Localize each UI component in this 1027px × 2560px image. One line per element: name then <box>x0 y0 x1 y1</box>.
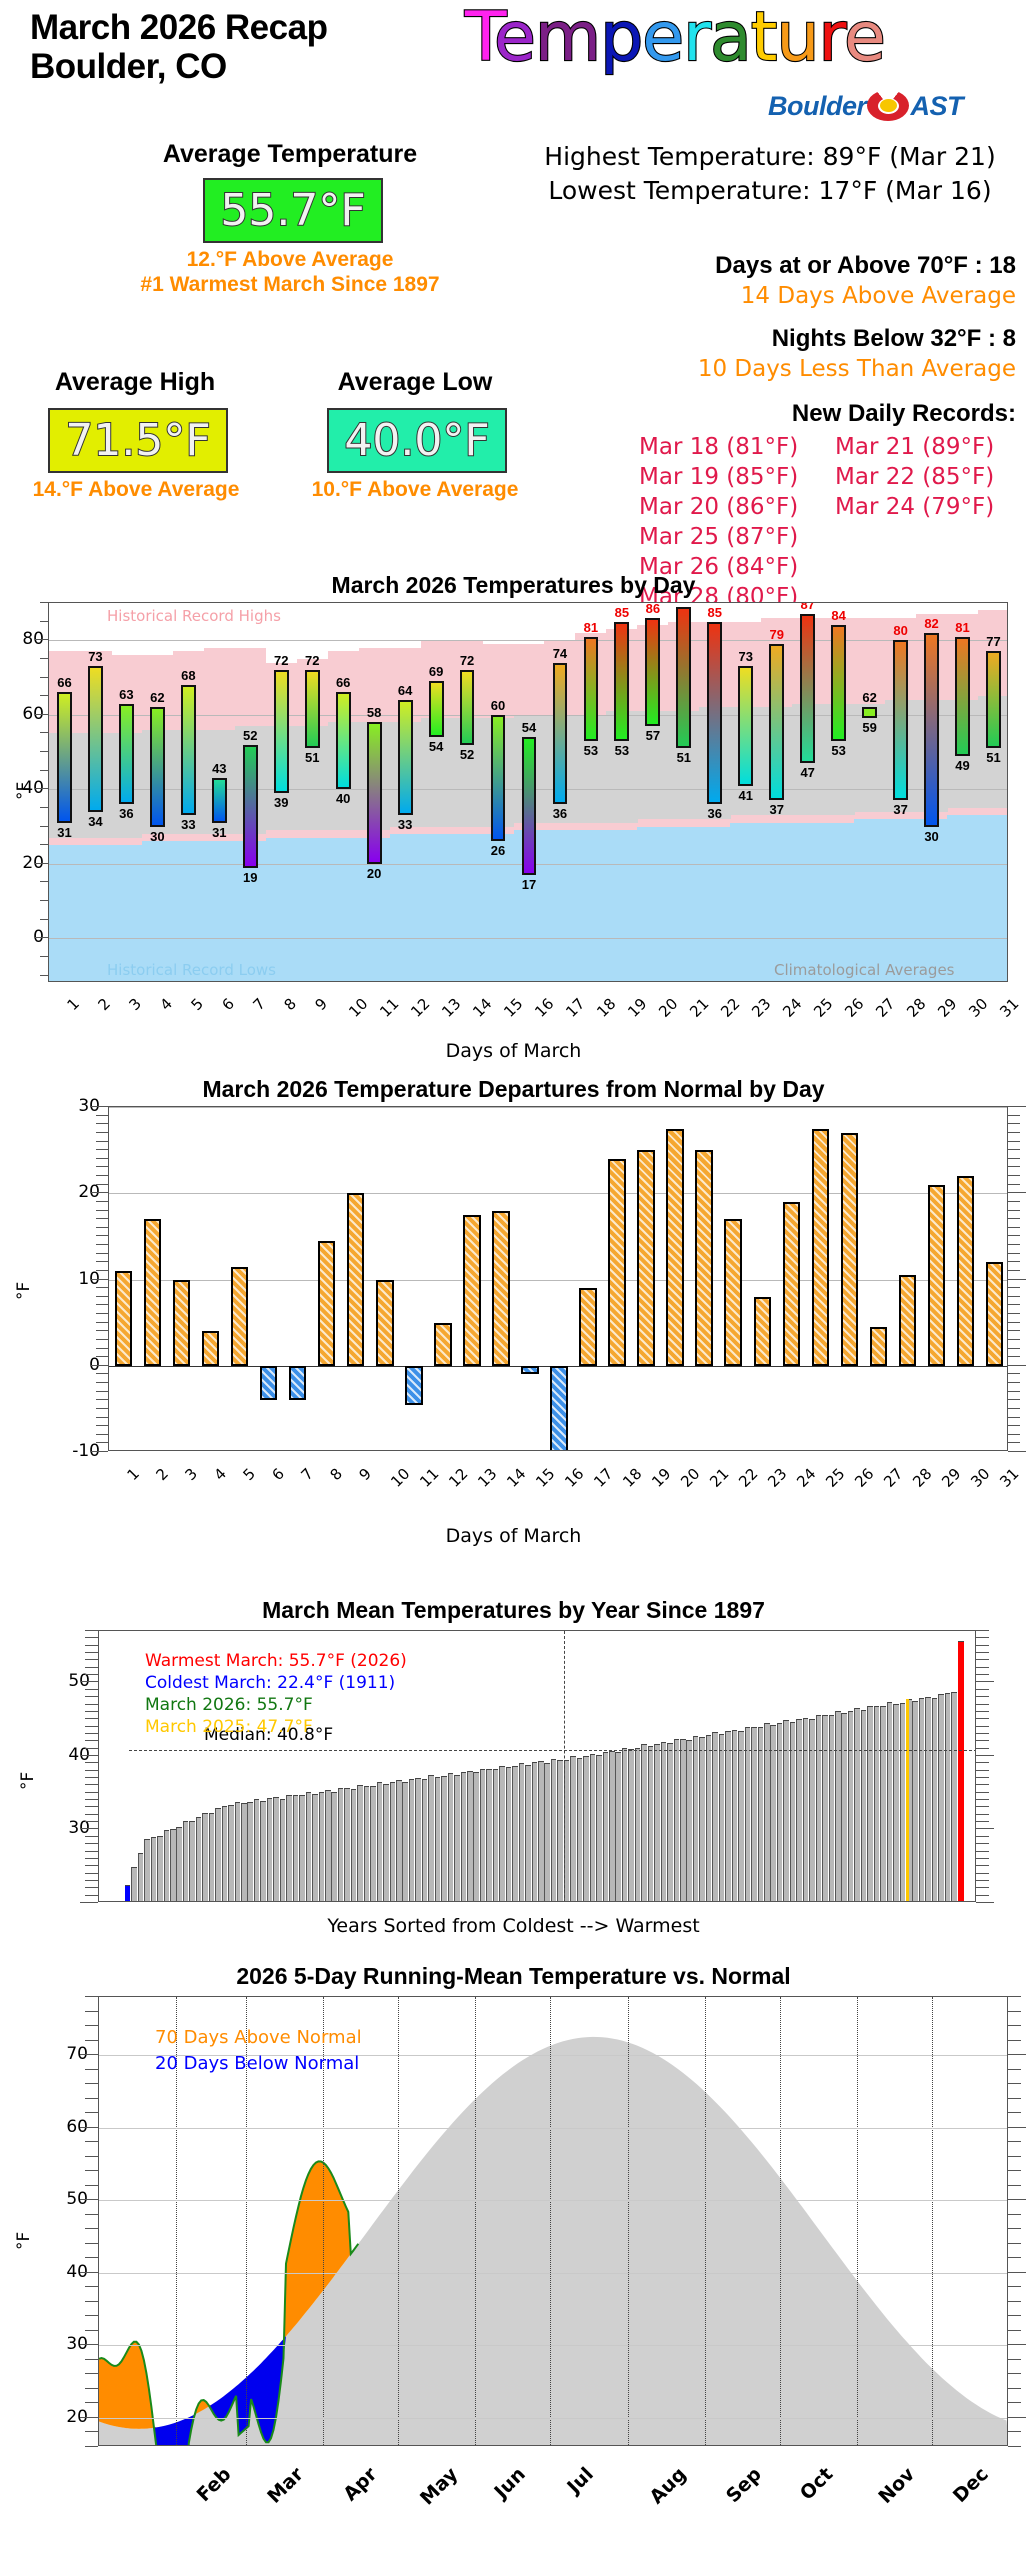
year-mean-bar <box>816 1715 822 1902</box>
year-mean-bar <box>409 1779 415 1902</box>
chart1-xtick: 10 <box>345 995 371 1021</box>
bouldercast-logo: BoulderAST <box>768 90 963 122</box>
chart3-ytick-mark-right <box>976 1792 989 1793</box>
wordmark-letter-1: e <box>494 0 535 77</box>
chart4-legend: 70 Days Above Normal20 Days Below Normal <box>155 2025 362 2077</box>
chart2-ytick-mark <box>96 1322 108 1323</box>
day-high-label: 73 <box>75 649 116 664</box>
year-mean-bar <box>796 1719 802 1902</box>
chart1-ytick-mark <box>35 937 48 938</box>
chart4-ytick-mark-right <box>1008 2040 1021 2041</box>
chart4-ytick-mark-right <box>1008 2025 1021 2026</box>
chart4-ytick-mark-right <box>1008 2417 1026 2418</box>
chart2-ytick-mark-right <box>1008 1348 1020 1349</box>
chart2-ytick-mark <box>96 1391 108 1392</box>
chart1-xtick: 14 <box>469 995 495 1021</box>
chart4-gridline <box>99 2345 1008 2346</box>
year-mean-bar <box>880 1706 886 1902</box>
year-mean-bar <box>370 1786 376 1902</box>
chart3-title: March Mean Temperatures by Year Since 18… <box>0 1597 1027 1624</box>
chart3-ytick-mark-right <box>976 1777 989 1778</box>
chart2-ytick-mark-right <box>1008 1106 1026 1107</box>
year-mean-bar <box>686 1740 692 1902</box>
year-mean-bar <box>377 1782 383 1902</box>
year-mean-bar <box>841 1713 847 1902</box>
chart3-ytick-mark <box>85 1777 98 1778</box>
annotation-record-highs: Historical Record Highs <box>107 607 281 625</box>
day-range-bar <box>553 663 568 805</box>
day-low-label: 36 <box>694 806 735 821</box>
day-range-bar <box>336 692 351 789</box>
chart3-legend-item-3: March 2025: 47.7°F <box>145 1716 407 1738</box>
chart3-ytick-mark <box>80 1681 98 1682</box>
day-high-label: 85 <box>694 605 735 620</box>
year-mean-bar <box>151 1837 157 1902</box>
chart4-ytick-mark-right <box>1008 1996 1021 1997</box>
record-low-band <box>390 834 422 982</box>
departure-bar <box>173 1280 190 1366</box>
year-mean-bar <box>441 1776 447 1902</box>
day-low-label: 26 <box>478 843 519 858</box>
chart4-ytick-mark-right <box>1008 2388 1021 2389</box>
chart4-ytick-mark-right <box>1008 2315 1021 2316</box>
chart1-title: March 2026 Temperatures by Day <box>0 572 1027 599</box>
chart2-ytick-mark-right <box>1008 1166 1020 1167</box>
chart2-ytick-mark-right <box>1008 1417 1020 1418</box>
day-low-label: 53 <box>818 743 859 758</box>
year-mean-bar <box>396 1780 402 1902</box>
chart2-ytick-mark-right <box>1008 1201 1020 1202</box>
year-mean-bar <box>667 1743 673 1902</box>
chart4-ytick-mark <box>85 1996 98 1997</box>
chart3-ytick-mark-right <box>976 1733 989 1734</box>
chart3-ytick-mark-right <box>976 1770 989 1771</box>
year-mean-bar <box>661 1742 667 1902</box>
chart4-ytick-mark-right <box>1008 2083 1021 2084</box>
chart1-ytick-mark <box>40 881 48 882</box>
chart2-ytick-mark <box>96 1434 108 1435</box>
chart1-xtick: 13 <box>438 995 464 1021</box>
day-low-label: 37 <box>880 802 921 817</box>
chart3-ytick-mark <box>85 1799 98 1800</box>
chart4-ytick-mark <box>85 2243 98 2244</box>
day-low-label: 53 <box>601 743 642 758</box>
departure-bar <box>754 1297 771 1366</box>
record-low-band <box>978 815 1008 982</box>
year-mean-bar <box>809 1719 815 1902</box>
chart3-ytick-mark-right <box>976 1851 989 1852</box>
chart4-ytick-mark <box>85 2359 98 2360</box>
chart3-ytick-mark-right <box>976 1821 989 1822</box>
year-mean-bar <box>461 1772 467 1902</box>
departure-bar <box>637 1150 654 1366</box>
chart2-ytick-mark-right <box>1008 1399 1020 1400</box>
chart3-ytick-mark <box>85 1652 98 1653</box>
chart3-ytick-mark-right <box>976 1726 989 1727</box>
record-low-band <box>730 823 762 982</box>
chart2-ytick-mark-right <box>1008 1434 1020 1435</box>
day-low-label: 47 <box>787 765 828 780</box>
year-mean-bar <box>919 1698 925 1902</box>
chart3-ytick-mark <box>85 1645 98 1646</box>
year-mean-bar <box>674 1739 680 1902</box>
chart4-ytick-mark <box>85 2170 98 2171</box>
chart4-ytick-mark-right <box>1008 2054 1026 2055</box>
year-mean-bar <box>293 1795 299 1902</box>
chart4-month-divider-7 <box>705 1997 706 2446</box>
chart3-ytick-mark <box>85 1821 98 1822</box>
chart2-xtick: 1 <box>123 1465 142 1484</box>
chart4-ytick-mark <box>80 2272 98 2273</box>
year-mean-bar <box>209 1813 215 1902</box>
chart3-ytick-mark <box>85 1784 98 1785</box>
year-mean-bar <box>725 1731 731 1902</box>
chart2-ytick-mark <box>96 1399 108 1400</box>
day-range-bar <box>398 700 413 815</box>
day-high-label: 62 <box>849 690 890 705</box>
year-mean-bar <box>958 1641 964 1902</box>
chart4-ytick-mark <box>85 2040 98 2041</box>
year-mean-bar <box>415 1778 421 1902</box>
chart3-ytick-mark <box>85 1740 98 1741</box>
year-mean-bar <box>583 1756 589 1902</box>
wordmark-letter-6: a <box>710 0 751 77</box>
chart1-xtick: 28 <box>903 995 929 1021</box>
chart2-ytick-mark-right <box>1008 1442 1020 1443</box>
chart1-plot-area: 6631733463366230683343315219723972516640… <box>48 602 1008 982</box>
chart2-xtick: 14 <box>503 1465 529 1491</box>
avg-high-value: 71.5°F <box>65 415 210 466</box>
chart4-ytick-mark-right <box>1008 2199 1026 2200</box>
chart3-xlabel: Years Sorted from Coldest --> Warmest <box>0 1915 1027 1937</box>
chart3-ytick-mark-right <box>976 1858 989 1859</box>
day-range-bar <box>924 633 939 827</box>
chart3-ytick-mark-right <box>976 1652 989 1653</box>
departure-bar <box>376 1280 393 1366</box>
chart2-ytick-mark-right <box>1008 1322 1020 1323</box>
year-mean-bar <box>189 1821 195 1902</box>
chart3-ytick-mark <box>80 1755 98 1756</box>
day-low-label: 41 <box>725 788 766 803</box>
day-low-label: 36 <box>539 806 580 821</box>
chart3-ytick-mark-right <box>976 1711 989 1712</box>
year-mean-bar <box>351 1789 357 1902</box>
chart3-ytick-mark-right <box>976 1836 989 1837</box>
days-above-70-stat: Days at or Above 70°F : 18 <box>560 252 1016 280</box>
chart1-ytick-mark <box>35 863 48 864</box>
chart3-ytick-mark <box>85 1865 98 1866</box>
chart4-ytick-mark <box>85 2083 98 2084</box>
chart2-ytick-mark-right <box>1008 1313 1020 1314</box>
year-mean-bar <box>493 1769 499 1902</box>
chart2-ytick-mark-right <box>1008 1304 1020 1305</box>
chart4-title: 2026 5-Day Running-Mean Temperature vs. … <box>0 1963 1027 1990</box>
chart2-ytick-mark-right <box>1008 1227 1020 1228</box>
chart4-ytick-mark <box>85 2069 98 2070</box>
day-range-bar <box>707 622 722 805</box>
chart2-xtick: 16 <box>561 1465 587 1491</box>
year-mean-bar <box>848 1711 854 1902</box>
year-mean-bar <box>532 1762 538 1902</box>
chart1-xtick: 8 <box>281 995 300 1014</box>
year-mean-bar <box>628 1749 634 1902</box>
chart3-ytick-mark <box>85 1667 98 1668</box>
year-mean-bar <box>448 1773 454 1902</box>
chart2-ytick-mark <box>96 1287 108 1288</box>
annotation-climatology: Climatological Averages <box>774 961 955 979</box>
chart2-ytick-mark-right <box>1008 1408 1020 1409</box>
year-mean-bar <box>525 1765 531 1902</box>
chart2-ytick-mark-right <box>1008 1175 1020 1176</box>
year-mean-bar <box>183 1821 189 1902</box>
chart4-ytick-mark-right <box>1008 2373 1021 2374</box>
record-left-1: Mar 19 (85°F) <box>639 464 798 490</box>
chart2-ytick-mark <box>96 1348 108 1349</box>
median-year-divider <box>564 1631 565 1902</box>
departure-bar <box>463 1215 480 1366</box>
departure-bar <box>608 1159 625 1366</box>
chart2-ytick-mark <box>96 1253 108 1254</box>
chart3-ytick-mark-right <box>976 1895 989 1896</box>
chart1-xtick: 1 <box>64 995 83 1014</box>
year-mean-bar <box>486 1769 492 1902</box>
chart1-xtick: 25 <box>810 995 836 1021</box>
chart4-ylabel: °F <box>14 2232 34 2250</box>
year-mean-bar <box>654 1744 660 1902</box>
wordmark-letter-2: m <box>535 0 600 77</box>
year-mean-bar <box>215 1808 221 1902</box>
year-mean-bar <box>331 1792 337 1902</box>
year-mean-bar <box>506 1767 512 1902</box>
day-range-bar <box>212 778 227 823</box>
year-mean-bar <box>357 1785 363 1902</box>
chart3-ytick-mark-right <box>976 1887 989 1888</box>
chart2-ytick-mark <box>96 1296 108 1297</box>
chart2-xtick: 5 <box>239 1465 258 1484</box>
chart1-xtick: 15 <box>500 995 526 1021</box>
year-mean-bar <box>609 1751 615 1902</box>
year-mean-bar <box>402 1782 408 1902</box>
chart4-ytick-mark <box>85 2112 98 2113</box>
chart4-ytick-mark <box>80 2054 98 2055</box>
chart3-ytick-mark <box>85 1792 98 1793</box>
chart2-ytick-mark <box>96 1261 108 1262</box>
chart3-ytick-mark <box>85 1814 98 1815</box>
chart1-xtick: 9 <box>312 995 331 1014</box>
year-mean-bar <box>235 1802 241 1902</box>
chart1-ytick-mark <box>40 770 48 771</box>
chart3-ytick-mark <box>85 1887 98 1888</box>
year-mean-bar <box>829 1715 835 1902</box>
chart4-ytick-mark <box>85 2286 98 2287</box>
chart2-xtick: 10 <box>387 1465 413 1491</box>
chart4-gridline <box>99 2200 1008 2201</box>
chart2-ytick-mark <box>96 1235 108 1236</box>
chart3-ytick-mark <box>85 1733 98 1734</box>
day-range-bar <box>738 666 753 785</box>
chart4-xtick-sep: Sep <box>722 2463 766 2507</box>
chart2-ytick-mark-right <box>1008 1451 1026 1452</box>
day-range-bar <box>88 666 103 811</box>
chart4-ytick-mark-right <box>1008 2446 1021 2447</box>
year-mean-bar <box>615 1752 621 1902</box>
year-mean-bar <box>260 1801 266 1902</box>
wordmark-letter-7: t <box>751 0 777 77</box>
chart3-ytick-mark <box>85 1630 98 1631</box>
chart2-xtick: 12 <box>445 1465 471 1491</box>
chart1-xtick: 19 <box>624 995 650 1021</box>
chart1-ytick-mark <box>40 751 48 752</box>
chart1-xtick: 24 <box>779 995 805 1021</box>
chart4-month-divider-10 <box>932 1997 933 2446</box>
year-mean-bar <box>790 1722 796 1902</box>
avg-temp-box: 55.7°F <box>203 178 383 243</box>
chart1-xtick: 5 <box>188 995 207 1014</box>
year-mean-bar <box>241 1803 247 1902</box>
wordmark-letter-10: e <box>844 0 885 77</box>
chart1-ytick-mark <box>40 956 48 957</box>
record-low-band <box>823 823 855 982</box>
record-low-band <box>699 827 731 982</box>
day-high-label: 60 <box>478 698 519 713</box>
year-mean-bar <box>783 1720 789 1902</box>
chart4-gridline <box>99 2273 1008 2274</box>
year-mean-bar <box>603 1752 609 1902</box>
year-mean-bar <box>932 1698 938 1902</box>
chart1-xtick: 6 <box>219 995 238 1014</box>
chart2-ytick-mark <box>96 1313 108 1314</box>
chart1-xtick: 27 <box>872 995 898 1021</box>
departure-bar <box>928 1185 945 1366</box>
chart2-ytick-mark <box>90 1106 108 1107</box>
year-mean-bar <box>738 1731 744 1902</box>
chart2-ytick-mark-right <box>1008 1244 1020 1245</box>
day-range-bar <box>367 722 382 864</box>
departure-bar <box>231 1267 248 1366</box>
record-left-3: Mar 25 (87°F) <box>639 524 798 550</box>
chart4-ytick-mark-right <box>1008 2170 1021 2171</box>
chart3-legend-item-1: Coldest March: 22.4°F (1911) <box>145 1672 407 1694</box>
year-mean-bar <box>538 1761 544 1902</box>
record-left-0: Mar 18 (81°F) <box>639 434 798 460</box>
year-mean-bar <box>900 1703 906 1902</box>
year-mean-bar <box>319 1792 325 1902</box>
chart4-ytick-mark <box>80 2199 98 2200</box>
chart2-ytick-mark-right <box>1008 1270 1020 1271</box>
day-high-label: 64 <box>385 683 426 698</box>
year-mean-bar <box>867 1706 873 1902</box>
year-mean-bar <box>473 1772 479 1902</box>
record-low-band <box>606 830 638 982</box>
year-mean-bar <box>480 1769 486 1902</box>
chart4-ytick-mark-right <box>1008 2286 1021 2287</box>
chart2-ytick-mark-right <box>1008 1123 1020 1124</box>
chart4-ytick-mark <box>85 2402 98 2403</box>
chart4-ytick-mark <box>85 2257 98 2258</box>
avg-high-anomaly: 14.°F Above Average <box>6 478 266 503</box>
day-range-bar <box>150 707 165 826</box>
day-low-label: 36 <box>106 806 147 821</box>
year-mean-bar <box>383 1784 389 1902</box>
chart4-ytick-mark <box>85 2301 98 2302</box>
wordmark-letter-8: u <box>776 0 818 77</box>
chart3-ytick-mark <box>85 1895 98 1896</box>
chart2-ytick-mark <box>96 1244 108 1245</box>
chart1-ytick-mark <box>40 695 48 696</box>
chart2-xtick: 30 <box>968 1465 994 1491</box>
chart2-ytick-mark <box>96 1175 108 1176</box>
departure-bar <box>957 1176 974 1366</box>
chart3-ytick-mark-right <box>976 1814 989 1815</box>
chart2-xtick: 24 <box>793 1465 819 1491</box>
chart3-ytick-mark-right <box>976 1659 989 1660</box>
chart2-ytick-mark <box>96 1201 108 1202</box>
year-mean-bar <box>861 1710 867 1902</box>
chart3-ytick-mark-right <box>976 1873 989 1874</box>
chart3-legend-item-0: Warmest March: 55.7°F (2026) <box>145 1650 407 1672</box>
chart4-month-divider-5 <box>550 1997 551 2446</box>
chart1-ytick-mark <box>35 788 48 789</box>
chart1-ytick-mark <box>40 900 48 901</box>
chart2-xtick: 3 <box>181 1465 200 1484</box>
year-mean-bar <box>732 1730 738 1902</box>
chart4-ytick-mark <box>80 2344 98 2345</box>
departure-bar <box>289 1366 306 1401</box>
chart2-xtick: 23 <box>764 1465 790 1491</box>
chart4-ytick-mark-right <box>1008 2141 1021 2142</box>
chart3-ytick-mark-right <box>976 1718 989 1719</box>
day-range-bar <box>119 704 134 805</box>
chart2-ytick-mark-right <box>1008 1339 1020 1340</box>
chart2-ytick-mark <box>96 1132 108 1133</box>
day-high-label: 84 <box>818 608 859 623</box>
chart4-ytick-mark <box>85 2388 98 2389</box>
chart1-ytick-mark <box>40 658 48 659</box>
new-records-column-right: Mar 21 (89°F)Mar 22 (85°F)Mar 24 (79°F) <box>835 434 994 524</box>
avg-temp-value: 55.7°F <box>220 185 365 236</box>
year-mean-bar <box>170 1829 176 1902</box>
chart1-ytick-mark <box>40 677 48 678</box>
year-mean-bar <box>280 1799 286 1902</box>
annotation-record-lows: Historical Record Lows <box>107 961 276 979</box>
day-low-label: 19 <box>230 870 271 885</box>
chart4-ytick-mark <box>85 2156 98 2157</box>
day-range-bar <box>181 685 196 815</box>
wordmark-letter-9: r <box>819 0 844 77</box>
chart1-gridline <box>49 938 1008 939</box>
day-high-label: 79 <box>756 627 797 642</box>
chart2-ytick-mark-right <box>1008 1373 1020 1374</box>
day-low-label: 52 <box>447 747 488 762</box>
page-title-line2: Boulder, CO <box>30 47 327 86</box>
year-mean-bar <box>854 1708 860 1902</box>
departure-bar <box>115 1271 132 1366</box>
day-high-label: 72 <box>447 653 488 668</box>
chart2-xtick: 25 <box>823 1465 849 1491</box>
avg-temp-anomaly: 12.°F Above Average #1 Warmest March Sin… <box>60 248 520 298</box>
chart1-xtick: 22 <box>717 995 743 1021</box>
page-title: March 2026 Recap Boulder, CO <box>30 8 327 86</box>
chart4-ytick-mark-right <box>1008 2243 1021 2244</box>
year-mean-bar <box>519 1763 525 1902</box>
day-high-label: 73 <box>725 649 766 664</box>
chart2-xtick: 29 <box>939 1465 965 1491</box>
chart2-ytick-mark <box>96 1141 108 1142</box>
chart3-ytick-mark-right <box>976 1799 989 1800</box>
bouldercast-logo-left: Boulder <box>768 91 867 121</box>
record-low-band <box>328 838 360 982</box>
chart2-title: March 2026 Temperature Departures from N… <box>0 1076 1027 1103</box>
